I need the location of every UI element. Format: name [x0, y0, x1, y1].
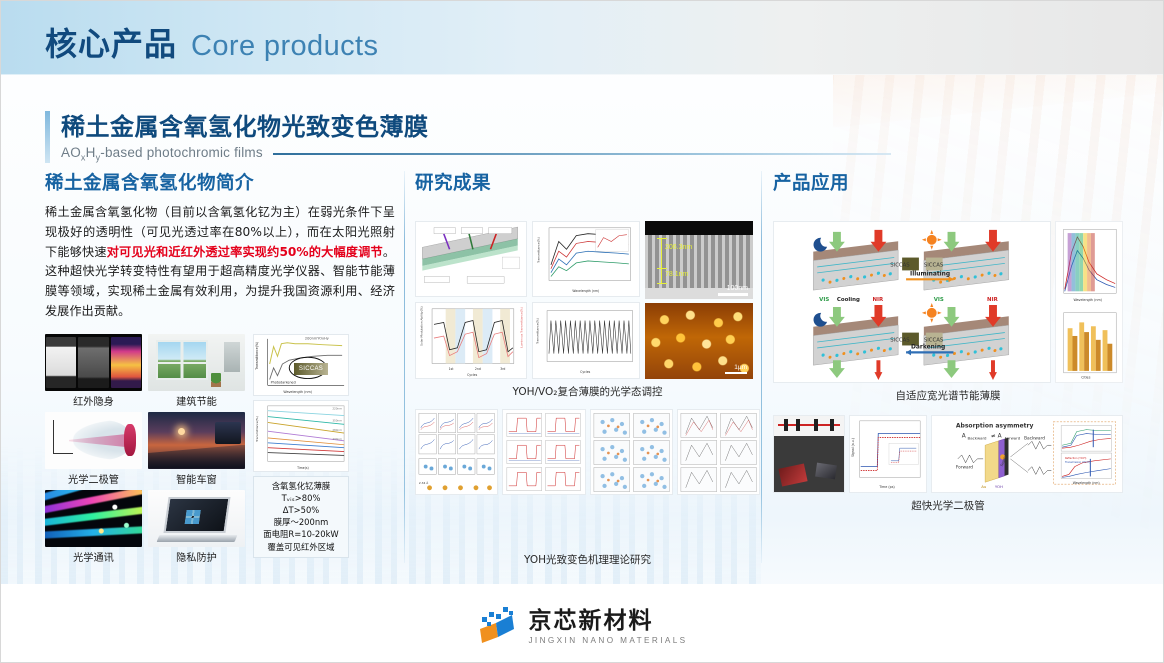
svg-text:Wavelength (nm): Wavelength (nm) — [1073, 298, 1101, 302]
application-heading: 产品应用 — [773, 169, 1123, 195]
research-bottom-figures: 2.34 Å — [415, 409, 760, 547]
thumbnail-caption: 隐私防护 — [148, 549, 245, 564]
svg-text:3rd: 3rd — [500, 367, 505, 371]
svg-text:A: A — [962, 433, 966, 439]
svg-text:Au: Au — [981, 484, 987, 489]
thumbnail-cell-building-energy-saving[interactable]: 建筑节能 — [148, 334, 245, 408]
infrared-stealth-image — [45, 334, 142, 391]
svg-text:Time(s): Time(s) — [296, 466, 309, 470]
svg-text:Wavelength (nm): Wavelength (nm) — [283, 390, 312, 394]
svg-text:2.34 Å: 2.34 Å — [419, 480, 428, 485]
intro-paragraph: 稀土金属含氧氢化物（目前以含氧氢化钇为主）在弱光条件下呈现极好的透明性（可见光透… — [45, 203, 395, 322]
siccas-watermark: SICCAS — [294, 363, 328, 375]
svg-text:SICCAS: SICCAS — [890, 338, 910, 344]
intro-text-highlight: 对可见光和近红外透过率实现约50%的大幅度调节 — [107, 245, 383, 259]
formula-prefix: AO — [61, 145, 81, 160]
svg-text:SICCAS: SICCAS — [890, 262, 910, 268]
spec-line-6: 覆盖可见红外区域 — [256, 541, 346, 553]
svg-text:Cities: Cities — [1081, 376, 1090, 380]
nonreciprocal-transmission-chart[interactable]: Signal (a.u.) Time (ps) — [849, 415, 927, 493]
research-top-figures: Solar Modulation Ability(%) Luminous Tra… — [415, 221, 760, 379]
svg-text:Transmittance(%): Transmittance(%) — [255, 341, 259, 370]
svg-text:Wavelength (nm): Wavelength (nm) — [1073, 481, 1100, 485]
svg-text:Transmittance(%): Transmittance(%) — [535, 318, 539, 345]
layer-structure-schematic[interactable] — [415, 221, 527, 297]
spec-line-3: ΔT>50% — [256, 504, 346, 516]
column-research: 研究成果 — [415, 169, 760, 567]
svg-text:NIR: NIR — [987, 297, 999, 303]
section-heading: 稀土金属含氧氢化物光致变色薄膜 AOxHy-based photochromic… — [45, 107, 891, 163]
svg-text:Backward: Backward — [1024, 435, 1045, 441]
sem-measure-2: 78.1nm — [665, 271, 688, 278]
svg-text:Signal (a.u.): Signal (a.u.) — [851, 438, 855, 457]
svg-text:Wavelength (nm): Wavelength (nm) — [572, 289, 599, 293]
svg-text:Illuminating: Illuminating — [910, 271, 950, 277]
thumbnail-caption: 光学二极管 — [45, 471, 142, 486]
svg-text:Transmission (YO:H): Transmission (YO:H) — [1065, 460, 1090, 464]
spectral-response-chart[interactable]: Wavelength (nm) Cities — [1055, 221, 1123, 383]
sem-cross-section-image[interactable]: 206.3nm 78.1nm 100nm — [645, 221, 753, 299]
research-heading: 研究成果 — [415, 169, 760, 195]
svg-text:Transmittance(%): Transmittance(%) — [255, 416, 259, 443]
afm-scale-label: 1µm — [734, 364, 747, 371]
slide-root: 核心产品 Core products 稀土金属含氧氢化物光致变色薄膜 AOxHy… — [0, 0, 1164, 663]
thumbnail-cell-optical-diode[interactable]: 光学二极管 — [45, 412, 142, 486]
svg-text:YOH: YOH — [995, 484, 1003, 489]
transmittance-vs-time-thickness-chart: 220nm 350nm 280nm 430nm Transmittance(%)… — [253, 400, 349, 472]
thumbnail-caption: 智能车窗 — [148, 471, 245, 486]
svg-text:2nd: 2nd — [475, 367, 481, 371]
thumbnail-cell-infrared-stealth[interactable]: 红外隐身 — [45, 334, 142, 408]
thumbnail-caption: 光学通讯 — [45, 549, 142, 564]
svg-text:SICCAS: SICCAS — [924, 338, 944, 344]
smart-car-window-image — [148, 412, 245, 469]
band-structure-panels[interactable]: 2.34 Å — [415, 409, 498, 495]
svg-text:≠ A: ≠ A — [991, 433, 1002, 439]
svg-text:Darkening: Darkening — [911, 344, 945, 350]
logo-name-cn: 京芯新材料 — [528, 601, 687, 635]
research-bottom-caption: YOH光致变色机理理论研究 — [415, 552, 760, 567]
afm-surface-image[interactable]: 1µm — [645, 303, 753, 379]
section-title-en: AOxHy-based photochromic films — [61, 145, 263, 163]
thumbnail-cell-smart-car-window[interactable]: 智能车窗 — [148, 412, 245, 486]
intro-heading: 稀土金属含氧氢化物简介 — [45, 169, 395, 195]
footer: 京芯新材料 JINGXIN NANO MATERIALS — [1, 584, 1163, 662]
svg-text:SICCAS: SICCAS — [924, 262, 944, 268]
svg-text:Forward: Forward — [956, 465, 973, 471]
intro-side-column: 200nmYOxHy Photodarkened Transmittance(%… — [253, 334, 349, 564]
formula-h: H — [86, 145, 96, 160]
svg-text:430nm: 430nm — [332, 436, 342, 440]
svg-text:Luminous Transmittance(%): Luminous Transmittance(%) — [520, 307, 524, 348]
section-title-cn: 稀土金属含氧氢化物光致变色薄膜 — [61, 107, 891, 142]
application-bottom-caption: 超快光学二极管 — [773, 498, 1123, 513]
svg-text:VIS: VIS — [934, 297, 944, 303]
thumbnail-cell-privacy-protection[interactable]: 隐私防护 — [148, 490, 245, 564]
svg-text:200nmYOxHy: 200nmYOxHy — [305, 336, 329, 340]
svg-text:Photodarkened: Photodarkened — [271, 380, 296, 384]
svg-text:Absorption asymmetry: Absorption asymmetry — [956, 423, 1034, 430]
spec-line-2: Tᵥᵢₛ>80% — [256, 492, 346, 504]
svg-text:1st: 1st — [449, 367, 455, 371]
optical-diode-image — [45, 412, 142, 469]
spec-line-4: 膜厚～200nm — [256, 516, 346, 528]
column-divider-1 — [404, 171, 405, 563]
application-top-caption: 自适应宽光谱节能薄膜 — [773, 388, 1123, 403]
privacy-protection-image — [148, 490, 245, 547]
logo-name-en: JINGXIN NANO MATERIALS — [528, 636, 687, 645]
column-application: 产品应用 — [773, 169, 1123, 513]
crystal-structure-model[interactable] — [677, 409, 760, 495]
svg-text:Time (ps): Time (ps) — [878, 485, 895, 489]
spec-line-1: 含氧氢化钇薄膜 — [256, 480, 346, 492]
research-top-caption: YOH/VO₂复合薄膜的光学态调控 — [415, 384, 760, 399]
page-title-cn: 核心产品 — [45, 19, 177, 65]
thumbnail-cell-optical-communication[interactable]: 光学通讯 — [45, 490, 142, 564]
svg-text:Cycles: Cycles — [580, 370, 590, 374]
svg-text:NIR: NIR — [872, 297, 884, 303]
section-accent-bar — [45, 111, 50, 163]
column-divider-2 — [761, 171, 762, 563]
solar-modulation-cycles-chart[interactable]: Solar Modulation Ability(%) Luminous Tra… — [415, 302, 527, 379]
page-title: 核心产品 Core products — [45, 19, 378, 65]
photochromic-mechanism-diagram[interactable]: SICCAS SICCAS SICCAS SICCAS Illuminating… — [773, 221, 1051, 383]
svg-text:Cooling: Cooling — [837, 297, 860, 303]
svg-text:Reflection (YO:H): Reflection (YO:H) — [1065, 456, 1086, 460]
column-intro: 稀土金属含氧氢化物简介 稀土金属含氧氢化物（目前以含氧氢化钇为主）在弱光条件下呈… — [45, 169, 395, 564]
svg-text:280nm: 280nm — [332, 428, 342, 432]
svg-text:220nm: 220nm — [332, 406, 342, 410]
thumbnail-caption: 建筑节能 — [148, 393, 245, 408]
svg-text:Cycles: Cycles — [467, 373, 477, 377]
svg-text:Transmittance(%): Transmittance(%) — [536, 237, 540, 264]
time-resolved-transmittance-chart[interactable] — [502, 409, 585, 495]
svg-text:Solar Modulation Ability(%): Solar Modulation Ability(%) — [419, 306, 423, 346]
formula-suffix: -based photochromic films — [100, 145, 263, 160]
transmittance-vs-wavelength-chart: 200nmYOxHy Photodarkened Transmittance(%… — [253, 334, 349, 396]
section-rule — [273, 153, 891, 155]
svg-text:350nm: 350nm — [332, 418, 342, 422]
intro-media-area: 红外隐身 建筑节能 光学二极管 — [45, 334, 395, 564]
spec-line-5: 面电阻R=10-20kW — [256, 528, 346, 540]
sem-measure-1: 206.3nm — [665, 244, 692, 251]
spec-box: 含氧氢化钇薄膜 Tᵥᵢₛ>80% ΔT>50% 膜厚～200nm 面电阻R=10… — [253, 476, 349, 558]
absorption-asymmetry-diagram[interactable]: Absorption asymmetry A Backward ≠ A Forw… — [931, 415, 1123, 493]
charge-density-maps[interactable] — [590, 409, 673, 495]
thumbnail-caption: 红外隐身 — [45, 393, 142, 408]
optical-spectra-absorption-chart[interactable]: Transmittance(%) Wavelength (nm) — [532, 221, 640, 297]
company-logo-icon — [476, 603, 518, 643]
company-logo-text: 京芯新材料 JINGXIN NANO MATERIALS — [528, 601, 687, 645]
optical-bench-photo[interactable] — [773, 415, 845, 493]
svg-text:VIS: VIS — [819, 297, 829, 303]
page-title-en: Core products — [191, 30, 378, 63]
application-thumbnail-grid: 红外隐身 建筑节能 光学二极管 — [45, 334, 245, 564]
svg-text:Backward: Backward — [968, 435, 987, 440]
sem-scale-label: 100nm — [727, 285, 748, 292]
switching-stability-cycles-chart[interactable]: Transmittance(%) Cycles — [532, 302, 640, 379]
optical-communication-image — [45, 490, 142, 547]
building-energy-saving-image — [148, 334, 245, 391]
application-top-figures: SICCAS SICCAS SICCAS SICCAS Illuminating… — [773, 221, 1123, 383]
application-bottom-figures: Signal (a.u.) Time (ps) Absorption asymm… — [773, 415, 1123, 493]
